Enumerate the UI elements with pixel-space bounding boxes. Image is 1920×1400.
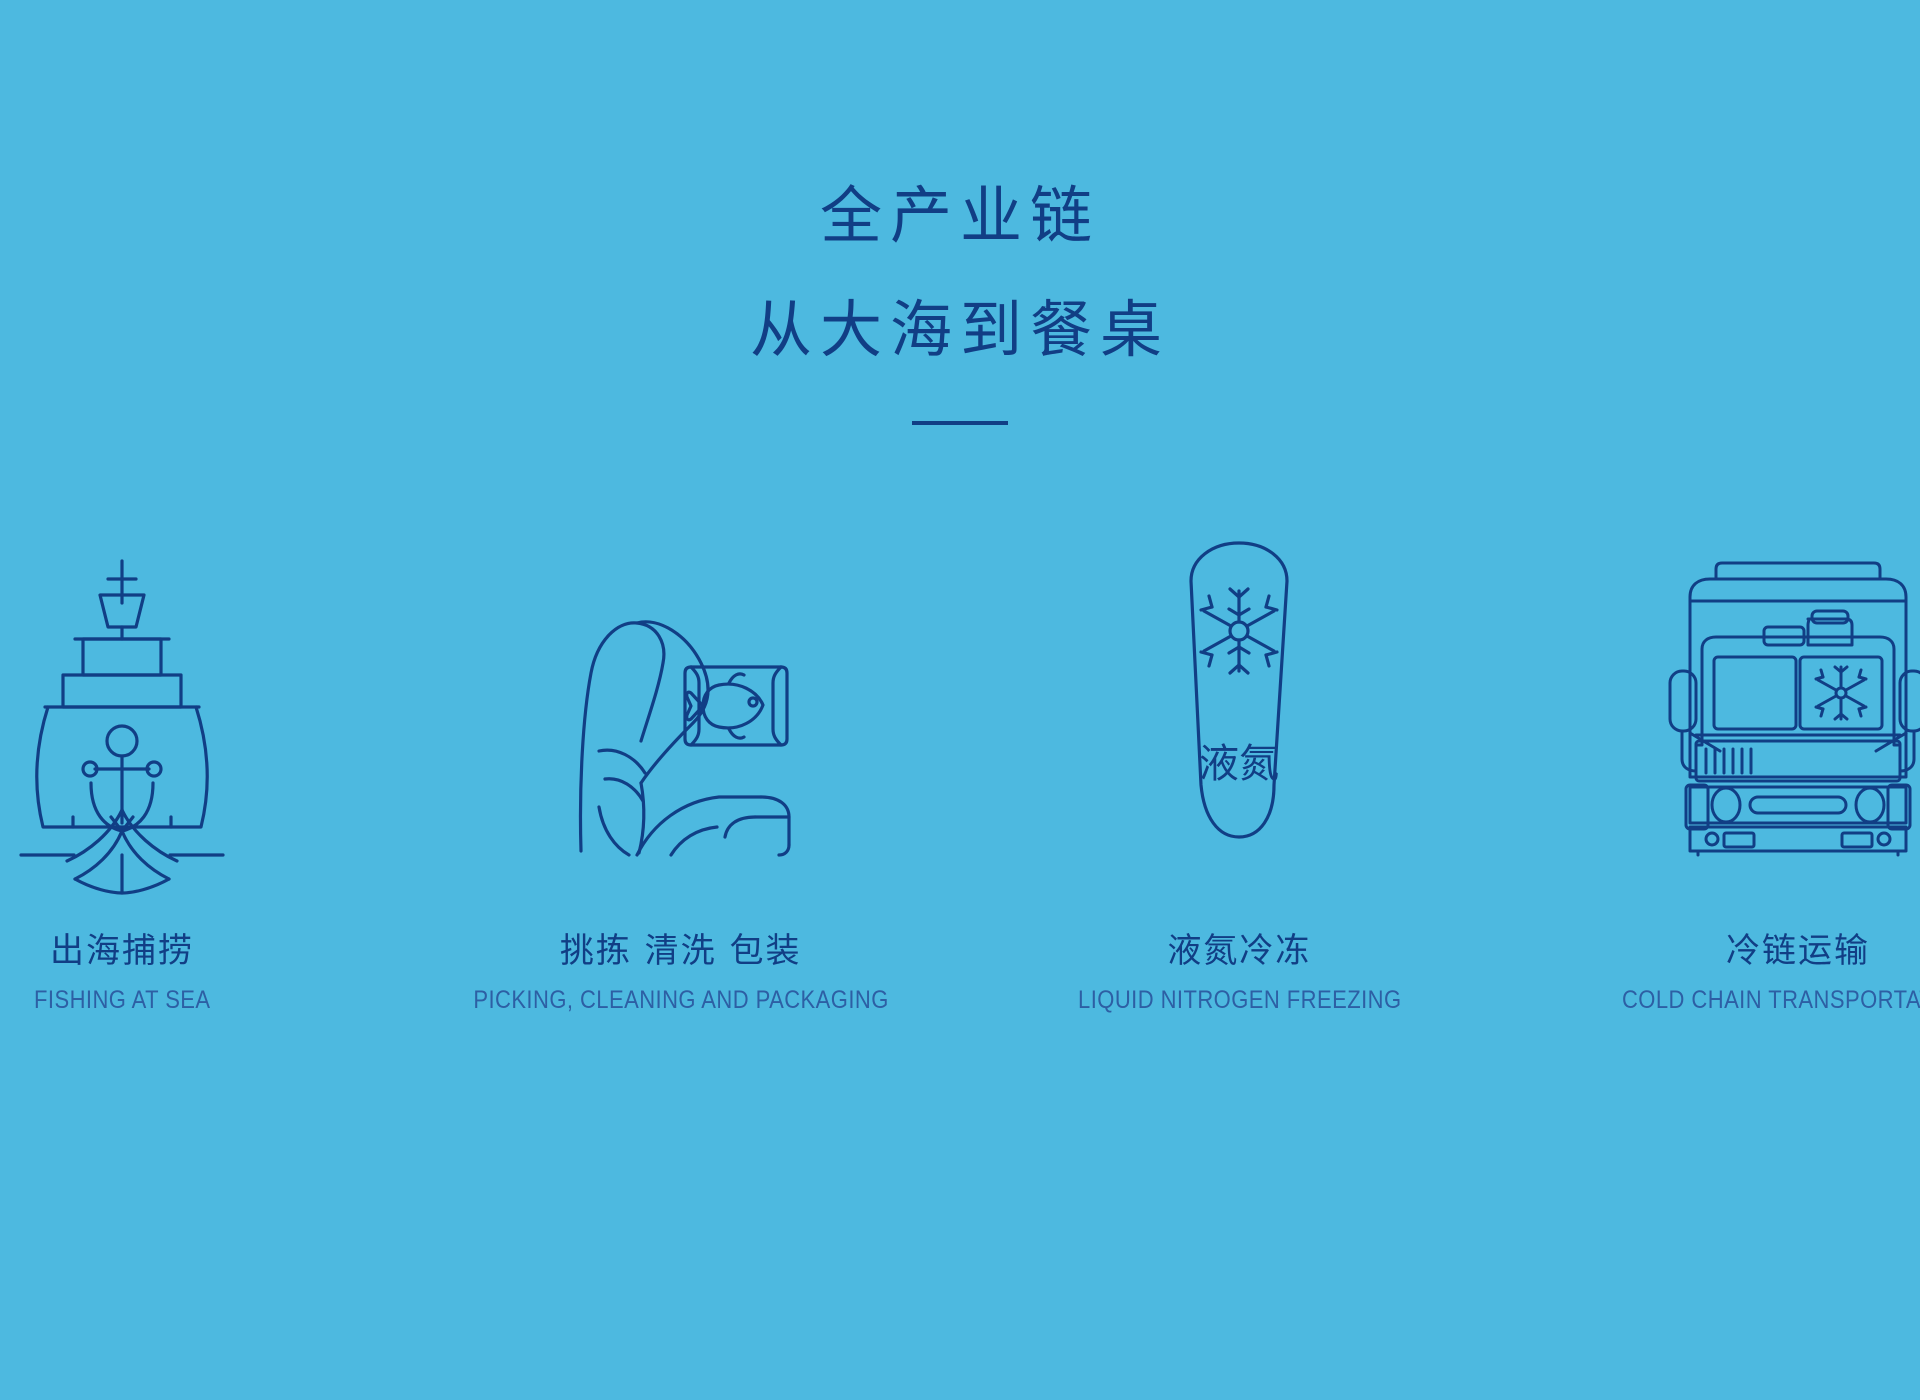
page-header: 全产业链 从大海到餐桌 [0, 185, 1920, 425]
caption-cn: 液氮冷冻 [1056, 923, 1424, 972]
page-title-primary: 全产业链 [0, 185, 1920, 247]
caption-block: 冷链运输 COLD CHAIN TRANSPORTATION [1598, 923, 1920, 1015]
snowflake-icon [1816, 667, 1866, 719]
hands-with-packaged-fish-icon [541, 525, 821, 855]
page-title-secondary: 从大海到餐桌 [0, 299, 1920, 361]
caption-block: 挑拣 清洗 包装 PICKING, CLEANING AND PACKAGING [445, 923, 917, 1015]
infographic-page: 全产业链 从大海到餐桌 [0, 0, 1920, 1400]
caption-block: 液氮冷冻 LIQUID NITROGEN FREEZING [1056, 923, 1424, 1015]
caption-en: FISHING AT SEA [34, 986, 211, 1015]
process-columns: 出海捕捞 FISHING AT SEA [0, 525, 1920, 1015]
snowflake-icon [1201, 589, 1277, 673]
refrigerated-truck-icon [1668, 525, 1920, 855]
liquid-nitrogen-tank-icon: 液氮 [1164, 525, 1314, 855]
process-step-liquid-nitrogen-freezing[interactable]: 液氮 液氮冷冻 LIQUID NITROGEN FREEZING [999, 525, 1479, 1015]
caption-cn: 冷链运输 [1598, 923, 1920, 972]
process-step-cold-chain-transportation[interactable]: 冷链运输 COLD CHAIN TRANSPORTATION [1558, 525, 1920, 1015]
caption-cn: 挑拣 清洗 包装 [445, 923, 917, 972]
caption-en: COLD CHAIN TRANSPORTATION [1622, 986, 1920, 1015]
fishing-boat-with-anchor-icon [7, 525, 237, 855]
caption-block: 出海捕捞 FISHING AT SEA [22, 923, 223, 1015]
title-divider [912, 421, 1008, 425]
caption-cn: 出海捕捞 [22, 923, 223, 972]
tank-label: 液氮 [1199, 741, 1279, 787]
caption-en: PICKING, CLEANING AND PACKAGING [473, 986, 888, 1015]
caption-en: LIQUID NITROGEN FREEZING [1078, 986, 1401, 1015]
process-step-picking-cleaning-packaging[interactable]: 挑拣 清洗 包装 PICKING, CLEANING AND PACKAGING [441, 525, 921, 1015]
process-step-fishing-at-sea[interactable]: 出海捕捞 FISHING AT SEA [0, 525, 362, 1015]
